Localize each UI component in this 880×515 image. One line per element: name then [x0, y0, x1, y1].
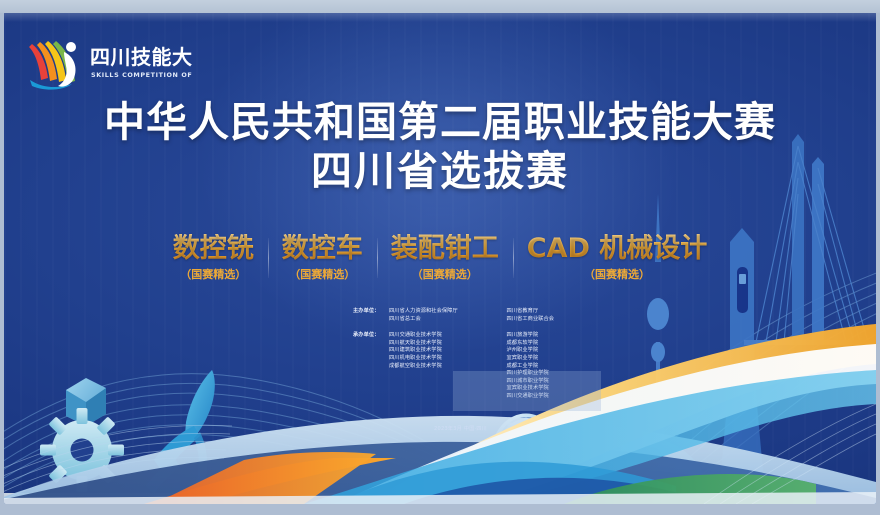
board-bottom-edge	[4, 493, 876, 504]
title-block: 中华人民共和国第二届职业技能大赛 四川省选拔赛	[4, 100, 876, 194]
backdrop-board: 四川技能大赛 SKILLS COMPETITION OF SICHUAN 中华人…	[4, 12, 876, 504]
board-top-edge	[0, 0, 880, 13]
credit-line: 四川旅游学院	[507, 332, 619, 340]
credit-line: 四川省教育厅	[507, 308, 619, 316]
event-item-0: 数控铣 （国赛精选）	[159, 234, 268, 282]
redacted-patch	[453, 371, 601, 411]
organizer-label: 承办单位：	[353, 332, 389, 400]
credits-block: 主办单位： 四川省人力资源和社会保障厅 四川省总工会 四川省教育厅 四川省工商业…	[353, 308, 618, 410]
logo-en-text: SKILLS COMPETITION OF SICHUAN	[91, 71, 192, 79]
credit-line: 四川省人力资源和社会保障厅	[389, 308, 501, 316]
credit-line: 泸州职业学院	[507, 347, 619, 355]
right-line-hatch	[704, 404, 876, 504]
host-group: 主办单位： 四川省人力资源和社会保障厅 四川省总工会 四川省教育厅 四川省工商业…	[353, 308, 618, 323]
credit-line: 四川机电职业技术学院	[389, 355, 501, 363]
gear-icon	[40, 408, 124, 492]
event-sublabel: （国赛精选）	[527, 266, 708, 282]
event-name: 装配钳工	[391, 234, 499, 264]
car-silhouette-icon	[584, 437, 710, 494]
event-name: CAD 机械设计	[527, 234, 708, 264]
credit-line: 四川交通职业技术学院	[389, 332, 501, 340]
event-sublabel: （国赛精选）	[391, 266, 499, 282]
event-item-1: 数控车 （国赛精选）	[268, 234, 377, 282]
credit-line: 四川建筑职业技术学院	[389, 347, 501, 355]
screenshot-root: 四川技能大赛 SKILLS COMPETITION OF SICHUAN 中华人…	[0, 0, 880, 515]
event-sublabel: （国赛精选）	[282, 266, 363, 282]
cube-icon	[66, 378, 106, 426]
host-right-column: 四川省教育厅 四川省工商业联合会	[501, 308, 619, 323]
event-name: 数控铣	[173, 234, 254, 264]
main-title-line1: 中华人民共和国第二届职业技能大赛	[4, 100, 876, 144]
host-left-column: 四川省人力资源和社会保障厅 四川省总工会	[389, 308, 501, 323]
logo-cn-text: 四川技能大赛	[90, 45, 192, 69]
event-sublabel: （国赛精选）	[173, 266, 254, 282]
events-row: 数控铣 （国赛精选） 数控车 （国赛精选） 装配钳工 （国赛精选） CAD 机械…	[4, 234, 876, 282]
logo-mark	[29, 41, 76, 90]
main-title-line2: 四川省选拔赛	[4, 149, 876, 193]
event-item-2: 装配钳工 （国赛精选）	[377, 234, 513, 282]
logo: 四川技能大赛 SKILLS COMPETITION OF SICHUAN	[24, 30, 192, 92]
credit-line: 宜宾职业学院	[507, 355, 619, 363]
credit-line: 四川省总工会	[389, 316, 501, 324]
event-name: 数控车	[282, 234, 363, 264]
credit-line: 成都航空职业技术学院	[389, 363, 501, 371]
date-location-line: 2023年3月 中国·四川	[353, 425, 568, 432]
event-item-3: CAD 机械设计 （国赛精选）	[513, 234, 722, 282]
rocket-plane-icon	[146, 370, 215, 504]
host-label: 主办单位：	[353, 308, 389, 323]
credit-line: 四川省工商业联合会	[507, 316, 619, 324]
